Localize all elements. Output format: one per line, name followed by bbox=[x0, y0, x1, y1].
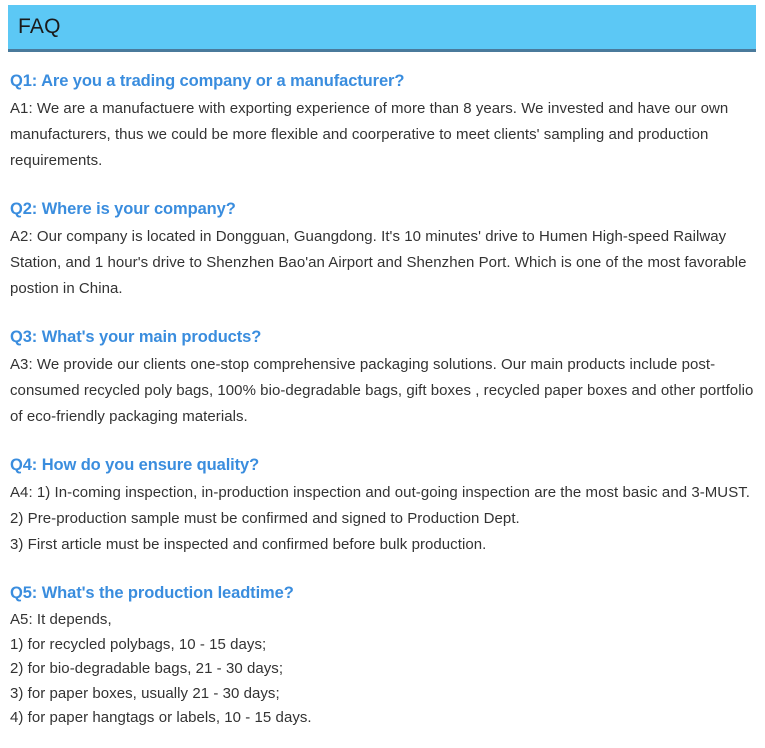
faq-list: Q1: Are you a trading company or a manuf… bbox=[10, 68, 755, 731]
faq-answer-line: A1: We are a manufactuere with exporting… bbox=[10, 96, 755, 174]
faq-question-q5: Q5: What's the production leadtime? bbox=[10, 580, 755, 606]
faq-answer-line: 2) Pre-production sample must be confirm… bbox=[10, 506, 755, 532]
faq-answer-line: 3) for paper boxes, usually 21 - 30 days… bbox=[10, 682, 755, 707]
faq-question-q1: Q1: Are you a trading company or a manuf… bbox=[10, 68, 755, 94]
faq-item-q5: Q5: What's the production leadtime? A5: … bbox=[10, 580, 755, 731]
faq-answer-line: 2) for bio-degradable bags, 21 - 30 days… bbox=[10, 657, 755, 682]
faq-banner-title: FAQ bbox=[18, 14, 61, 40]
faq-answer-line: 4) for paper hangtags or labels, 10 - 15… bbox=[10, 706, 755, 731]
faq-answer-q5: A5: It depends, 1) for recycled polybags… bbox=[10, 608, 755, 731]
faq-answer-q3: A3: We provide our clients one-stop comp… bbox=[10, 352, 755, 430]
faq-question-q2: Q2: Where is your company? bbox=[10, 196, 755, 222]
faq-answer-line: 1) for recycled polybags, 10 - 15 days; bbox=[10, 633, 755, 658]
faq-item-q3: Q3: What's your main products? A3: We pr… bbox=[10, 324, 755, 430]
faq-item-q1: Q1: Are you a trading company or a manuf… bbox=[10, 68, 755, 174]
faq-answer-q2: A2: Our company is located in Dongguan, … bbox=[10, 224, 755, 302]
faq-item-q2: Q2: Where is your company? A2: Our compa… bbox=[10, 196, 755, 302]
faq-answer-q4: A4: 1) In-coming inspection, in-producti… bbox=[10, 480, 755, 558]
faq-answer-line: A5: It depends, bbox=[10, 608, 755, 633]
faq-question-q3: Q3: What's your main products? bbox=[10, 324, 755, 350]
faq-question-q4: Q4: How do you ensure quality? bbox=[10, 452, 755, 478]
faq-answer-q1: A1: We are a manufactuere with exporting… bbox=[10, 96, 755, 174]
faq-item-q4: Q4: How do you ensure quality? A4: 1) In… bbox=[10, 452, 755, 558]
faq-page: FAQ Q1: Are you a trading company or a m… bbox=[0, 0, 765, 748]
faq-banner: FAQ bbox=[8, 5, 756, 52]
faq-answer-line: A3: We provide our clients one-stop comp… bbox=[10, 352, 755, 430]
faq-answer-line: A2: Our company is located in Dongguan, … bbox=[10, 224, 755, 302]
faq-answer-line: 3) First article must be inspected and c… bbox=[10, 532, 755, 558]
faq-answer-line: A4: 1) In-coming inspection, in-producti… bbox=[10, 480, 755, 506]
